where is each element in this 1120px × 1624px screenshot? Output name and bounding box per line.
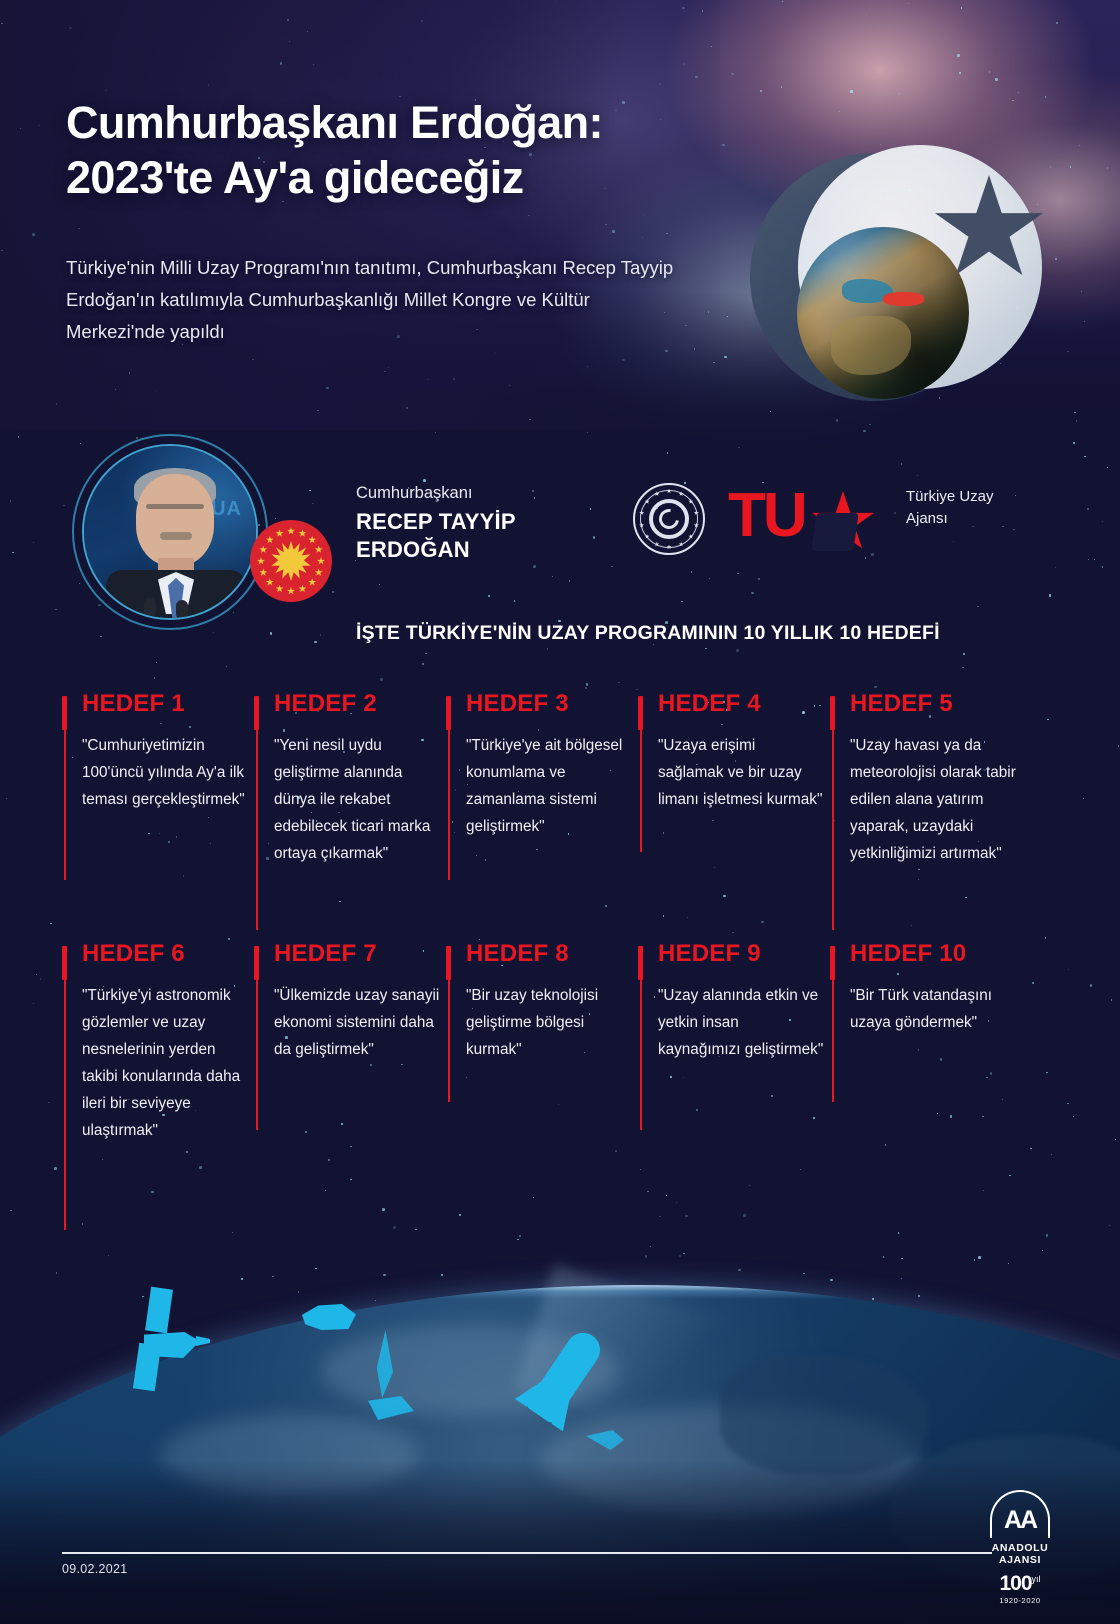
star-dot xyxy=(771,1095,772,1096)
satellite-icon xyxy=(138,1288,234,1388)
star-dot xyxy=(108,1255,109,1256)
star-dot xyxy=(894,512,895,513)
goal-accent-bar xyxy=(638,946,643,980)
star-dot xyxy=(636,689,637,690)
person-name-line-2: ERDOĞAN xyxy=(356,536,516,564)
goal-accent-bar xyxy=(254,946,259,980)
subheading-text: Türkiye'nin Milli Uzay Programı'nın tanı… xyxy=(66,252,686,347)
star-dot xyxy=(33,542,34,543)
star-dot xyxy=(683,1253,684,1254)
star-dot xyxy=(156,662,157,663)
star-dot xyxy=(148,833,149,834)
star-dot xyxy=(1047,719,1048,720)
star-dot xyxy=(1115,1139,1116,1140)
star-dot xyxy=(1090,984,1093,987)
star-dot xyxy=(312,503,313,504)
star-dot xyxy=(585,687,588,690)
star-dot xyxy=(415,1229,416,1230)
photo-flag-pin xyxy=(216,606,226,614)
star-dot xyxy=(605,905,606,906)
star-dot xyxy=(645,1255,648,1258)
star-dot xyxy=(514,600,515,601)
star-dot xyxy=(466,1077,467,1078)
presidential-seal-icon xyxy=(250,520,332,602)
goal-accent-bar xyxy=(62,696,67,730)
debris-fin-icon xyxy=(368,1396,416,1424)
president-photo: TUA xyxy=(84,446,256,618)
goal-title-4: HEDEF 4 xyxy=(658,692,824,716)
star-dot xyxy=(830,1279,833,1282)
goal-card-8: HEDEF 8"Bir uzay teknolojisi geliştirme … xyxy=(446,942,632,1064)
goal-accent-bar-thin xyxy=(64,730,66,880)
seal-star xyxy=(315,546,323,554)
star-dot xyxy=(611,566,612,567)
star-dot xyxy=(186,1151,187,1152)
star-dot xyxy=(1102,566,1103,567)
goal-card-5: HEDEF 5"Uzay havası ya da meteorolojisi … xyxy=(830,692,1016,868)
star-dot xyxy=(1094,559,1095,560)
goal-title-10: HEDEF 10 xyxy=(850,942,1016,966)
goal-title-1: HEDEF 1 xyxy=(82,692,248,716)
seal-star xyxy=(317,557,325,565)
small-craft-icon xyxy=(586,1430,626,1452)
star-dot xyxy=(751,592,754,595)
star-dot xyxy=(1073,1116,1074,1117)
star-dot xyxy=(659,1216,660,1217)
star-dot xyxy=(940,1058,943,1061)
seal-star xyxy=(287,527,295,535)
star-dot xyxy=(917,475,918,476)
star-dot xyxy=(102,1159,103,1160)
goal-accent-bar xyxy=(830,696,835,730)
goal-title-9: HEDEF 9 xyxy=(658,942,824,966)
star-dot xyxy=(983,1190,984,1191)
star-dot xyxy=(965,897,966,898)
star-dot xyxy=(974,1259,975,1260)
star-dot xyxy=(488,595,489,596)
star-dot xyxy=(552,576,553,577)
portrait-block: TUA xyxy=(72,434,302,634)
star-dot xyxy=(685,1215,688,1218)
headline-line-1: Cumhurbaşkanı Erdoğan: xyxy=(66,97,603,148)
person-name: RECEP TAYYİP ERDOĞAN xyxy=(356,508,516,564)
goal-text-6: "Türkiye'yi astronomik gözlemler ve uzay… xyxy=(82,983,248,1145)
satellite-antenna xyxy=(196,1336,210,1346)
star-dot xyxy=(650,1246,651,1247)
person-title: Cumhurbaşkanı xyxy=(356,484,516,503)
goal-accent-bar-thin xyxy=(832,730,834,930)
star-dot xyxy=(962,667,963,668)
star-dot xyxy=(712,820,713,821)
section-header: İŞTE TÜRKİYE'NİN UZAY PROGRAMININ 10 YIL… xyxy=(356,622,940,645)
star-dot xyxy=(325,1190,326,1191)
star-dot xyxy=(6,798,7,799)
fin-shape xyxy=(368,1396,414,1420)
photo-face xyxy=(136,474,214,566)
seal-star xyxy=(276,529,284,537)
star-dot xyxy=(534,497,535,498)
star-dot xyxy=(1008,1263,1009,1264)
star-dot xyxy=(696,1109,697,1110)
satellite-panel-top xyxy=(145,1287,173,1334)
star-dot xyxy=(154,677,155,678)
star-dot xyxy=(208,817,209,818)
anadolu-ajansi-logo: AA ANADOLU AJANSI 100yıl 1920-2020 xyxy=(978,1490,1062,1598)
star-dot xyxy=(183,875,184,876)
star-dot xyxy=(210,843,211,844)
star-dot xyxy=(738,1269,741,1272)
star-dot xyxy=(749,1185,750,1186)
star-dot xyxy=(425,653,426,654)
star-dot xyxy=(1109,1225,1110,1226)
star-dot xyxy=(459,1214,462,1217)
agency-name: Türkiye Uzay Ajansı xyxy=(906,486,1036,530)
goal-title-8: HEDEF 8 xyxy=(466,942,632,966)
star-dot xyxy=(441,1274,442,1275)
seal-star xyxy=(257,557,265,565)
star-dot xyxy=(370,1064,371,1065)
goal-accent-bar-thin xyxy=(256,730,258,930)
star-dot xyxy=(911,925,912,926)
star-dot xyxy=(663,915,664,916)
star-dot xyxy=(679,1255,680,1256)
star-dot xyxy=(1046,1072,1047,1073)
star-dot xyxy=(168,841,171,844)
star-dot xyxy=(36,974,37,975)
bottom-fade-overlay xyxy=(0,1460,1120,1624)
goal-title-2: HEDEF 2 xyxy=(274,692,440,716)
goal-accent-bar-thin xyxy=(448,730,450,880)
star-dot xyxy=(314,641,317,644)
star-dot xyxy=(199,1166,202,1169)
star-dot xyxy=(640,1169,641,1170)
star-dot xyxy=(918,879,919,880)
star-dot xyxy=(422,663,423,664)
star-dot xyxy=(593,536,596,539)
wing-shape xyxy=(375,1330,393,1398)
star-dot xyxy=(1032,982,1033,983)
star-dot xyxy=(176,836,177,837)
star-dot xyxy=(100,636,101,637)
star-dot xyxy=(1067,1103,1068,1104)
star-dot xyxy=(709,578,710,579)
page-title: Cumhurbaşkanı Erdoğan: 2023'te Ay'a gide… xyxy=(66,96,766,206)
star-dot xyxy=(151,1191,154,1194)
goal-accent-bar-thin xyxy=(640,730,642,852)
star-dot xyxy=(618,682,619,683)
aa-anniversary-years: 1920-2020 xyxy=(978,1596,1062,1605)
agency-name-line-2: Ajansı xyxy=(906,508,1036,530)
star-dot xyxy=(883,1256,884,1257)
goal-card-6: HEDEF 6"Türkiye'yi astronomik gözlemler … xyxy=(62,942,248,1145)
star-dot xyxy=(82,1223,83,1224)
star-dot xyxy=(1051,1154,1052,1155)
star-dot xyxy=(382,1208,385,1211)
star-dot xyxy=(918,869,919,870)
star-dot xyxy=(375,1300,376,1301)
star-dot xyxy=(978,1256,981,1259)
seal-star xyxy=(266,536,274,544)
star-dot xyxy=(813,1117,814,1118)
ministry-emblem-icon xyxy=(633,483,705,555)
star-dot xyxy=(874,686,877,689)
goal-text-4: "Uzaya erişimi sağlamak ve bir uzay lima… xyxy=(658,733,824,814)
seal-star xyxy=(266,578,274,586)
star-dot xyxy=(901,1258,902,1259)
star-dot xyxy=(705,648,706,649)
star-dot xyxy=(918,1049,919,1050)
goal-text-1: "Cumhuriyetimizin 100'üncü yılında Ay'a … xyxy=(82,733,248,814)
goal-accent-bar xyxy=(446,696,451,730)
goal-accent-bar-thin xyxy=(448,980,450,1102)
star-dot xyxy=(1102,521,1103,522)
star-dot xyxy=(901,1278,902,1279)
person-name-line-1: RECEP TAYYİP xyxy=(356,508,516,536)
star-dot xyxy=(670,1076,671,1077)
satellite-body xyxy=(144,1332,200,1358)
goal-text-10: "Bir Türk vatandaşını uzaya göndermek" xyxy=(850,983,1016,1037)
goal-card-4: HEDEF 4"Uzaya erişimi sağlamak ve bir uz… xyxy=(638,692,824,814)
shuttle-icon xyxy=(302,1300,358,1336)
goal-text-5: "Uzay havası ya da meteorolojisi olarak … xyxy=(850,733,1016,868)
tua-logo-notch xyxy=(811,513,858,551)
star-dot xyxy=(982,1116,983,1117)
star-dot xyxy=(54,1167,57,1170)
star-dot xyxy=(476,855,477,856)
goal-accent-bar xyxy=(830,946,835,980)
star-dot xyxy=(350,1179,351,1180)
photo-moustache xyxy=(160,532,192,540)
goal-text-3: "Türkiye'ye ait bölgesel konumlama ve za… xyxy=(466,733,632,841)
star-dot xyxy=(803,1273,804,1274)
star-dot xyxy=(12,552,13,553)
star-dot xyxy=(1118,745,1119,746)
star-dot xyxy=(990,1072,993,1075)
footer-divider xyxy=(62,1552,992,1554)
star-dot xyxy=(393,1226,396,1229)
star-dot xyxy=(1045,937,1046,938)
goal-text-2: "Yeni nesil uydu geliştirme alanında dün… xyxy=(274,733,440,868)
seal-star xyxy=(298,529,306,537)
star-dot xyxy=(986,1077,987,1078)
goal-accent-bar xyxy=(254,696,259,730)
star-dot xyxy=(328,1159,329,1160)
debris-wing-icon xyxy=(375,1330,401,1400)
aa-anniversary: 100yıl xyxy=(978,1573,1062,1594)
star-dot xyxy=(691,571,692,572)
star-dot xyxy=(232,1232,233,1233)
seal-star xyxy=(308,578,316,586)
person-label: Cumhurbaşkanı RECEP TAYYİP ERDOĞAN xyxy=(356,484,516,564)
photo-microphone-right xyxy=(176,600,188,620)
aa-anniversary-number: 100 xyxy=(999,1572,1031,1595)
aa-arch-icon: AA xyxy=(990,1490,1050,1538)
goal-title-3: HEDEF 3 xyxy=(466,692,632,716)
star-dot xyxy=(383,1274,386,1277)
seal-star xyxy=(298,585,306,593)
star-dot xyxy=(339,901,340,902)
star-dot xyxy=(519,1235,520,1236)
tua-logo: TU xyxy=(728,485,888,551)
goal-card-7: HEDEF 7"Ülkemizde uzay sanayii ekonomi s… xyxy=(254,942,440,1064)
seal-star xyxy=(276,585,284,593)
star-dot xyxy=(309,490,310,491)
star-dot xyxy=(241,1278,242,1279)
star-dot xyxy=(1049,594,1052,597)
star-dot xyxy=(732,932,733,933)
star-dot xyxy=(1046,1234,1049,1237)
star-dot xyxy=(272,1276,273,1277)
star-dot xyxy=(401,1064,402,1065)
goal-text-8: "Bir uzay teknolojisi geliştirme bölgesi… xyxy=(466,983,632,1064)
goal-card-2: HEDEF 2"Yeni nesil uydu geliştirme alanı… xyxy=(254,692,440,868)
star-dot xyxy=(228,938,229,939)
star-dot xyxy=(380,678,383,681)
goal-text-9: "Uzay alanında etkin ve yetkin insan kay… xyxy=(658,983,824,1064)
star-dot xyxy=(1055,567,1056,568)
goal-accent-bar-thin xyxy=(640,980,642,1130)
star-dot xyxy=(533,565,536,568)
star-dot xyxy=(666,1195,667,1196)
star-dot xyxy=(50,923,51,924)
star-dot xyxy=(950,1115,953,1118)
aa-logo-letters: AA xyxy=(992,1508,1048,1533)
goal-card-10: HEDEF 10"Bir Türk vatandaşını uzaya gönd… xyxy=(830,942,1016,1037)
seal-star xyxy=(308,536,316,544)
star-dot xyxy=(532,490,533,491)
seal-star xyxy=(287,587,295,595)
star-dot xyxy=(10,500,11,501)
goal-title-5: HEDEF 5 xyxy=(850,692,1016,716)
star-dot xyxy=(683,1077,684,1078)
star-dot xyxy=(379,584,380,585)
star-dot xyxy=(953,541,954,542)
star-dot xyxy=(676,1202,677,1203)
star-dot xyxy=(681,601,682,602)
star-dot xyxy=(315,1268,316,1269)
star-dot xyxy=(558,1104,559,1105)
goal-accent-bar xyxy=(62,946,67,980)
star-dot xyxy=(40,978,41,979)
star-dot xyxy=(350,1146,351,1147)
seal-star xyxy=(259,568,267,576)
star-dot xyxy=(533,1197,534,1198)
goal-accent-bar-thin xyxy=(64,980,66,1230)
star-dot xyxy=(1030,1148,1031,1149)
star-dot xyxy=(865,557,866,558)
star-dot xyxy=(761,921,764,924)
star-dot xyxy=(871,553,874,556)
goal-accent-bar-thin xyxy=(832,980,834,1102)
star-dot xyxy=(743,1214,746,1217)
aa-logo-name: ANADOLU AJANSI xyxy=(978,1542,1062,1566)
goal-card-3: HEDEF 3"Türkiye'ye ait bölgesel konumlam… xyxy=(446,692,632,841)
star-dot xyxy=(159,833,160,834)
star-dot xyxy=(663,832,664,833)
star-dot xyxy=(423,479,426,482)
star-dot xyxy=(320,634,321,635)
star-dot xyxy=(758,578,759,579)
star-dot xyxy=(647,1191,648,1192)
star-dot xyxy=(55,609,56,610)
goal-card-1: HEDEF 1"Cumhuriyetimizin 100'üncü yılınd… xyxy=(62,692,248,814)
earth-globe-icon xyxy=(797,227,969,399)
star-dot xyxy=(332,591,333,592)
star-dot xyxy=(1042,1250,1043,1251)
star-dot xyxy=(517,1239,518,1240)
turkey-highlight xyxy=(883,292,924,306)
star-dot xyxy=(723,895,726,898)
goal-accent-bar xyxy=(446,946,451,980)
star-dot xyxy=(1002,1099,1003,1100)
star-dot xyxy=(56,1272,57,1273)
star-dot xyxy=(305,1131,306,1132)
star-dot xyxy=(33,1003,34,1004)
star-dot xyxy=(898,1232,899,1233)
star-dot xyxy=(714,867,715,868)
seal-star xyxy=(259,546,267,554)
goal-accent-bar xyxy=(638,696,643,730)
star-dot xyxy=(590,508,591,509)
photo-brow xyxy=(146,504,204,509)
star-dot xyxy=(341,1123,342,1124)
headline-shade-overlay xyxy=(0,0,720,430)
star-dot xyxy=(1087,508,1088,509)
aa-anniversary-unit: yıl xyxy=(1032,1574,1041,1584)
landmass-shape xyxy=(720,1355,930,1475)
shuttle-body xyxy=(302,1304,356,1330)
headline-line-2: 2023'te Ay'a gideceğiz xyxy=(66,151,766,206)
goal-title-6: HEDEF 6 xyxy=(82,942,248,966)
star-dot xyxy=(485,859,486,860)
star-dot xyxy=(736,649,739,652)
star-dot xyxy=(226,666,227,667)
star-dot xyxy=(48,1102,49,1103)
star-dot xyxy=(1068,969,1069,970)
star-dot xyxy=(536,849,537,850)
goal-title-7: HEDEF 7 xyxy=(274,942,440,966)
portrait-inner-ring: TUA xyxy=(82,444,258,620)
star-dot xyxy=(1009,1175,1010,1176)
star-dot xyxy=(1083,798,1084,799)
goal-card-9: HEDEF 9"Uzay alanında etkin ve yetkin in… xyxy=(638,942,824,1064)
small-craft-body xyxy=(586,1430,624,1450)
star-dot xyxy=(1111,999,1112,1000)
star-dot xyxy=(977,606,978,607)
star-dot xyxy=(963,653,964,654)
agency-name-line-1: Türkiye Uzay xyxy=(906,486,1036,508)
star-dot xyxy=(547,648,548,649)
photo-microphone-left xyxy=(144,598,156,618)
turkish-flag-globe-graphic xyxy=(735,135,1065,420)
publish-date: 09.02.2021 xyxy=(62,1562,128,1576)
star-dot xyxy=(937,1113,938,1114)
star-dot xyxy=(10,1210,11,1211)
star-dot xyxy=(737,573,738,574)
landmass-shape xyxy=(831,316,910,374)
goal-text-7: "Ülkemizde uzay sanayii ekonomi sistemin… xyxy=(274,983,440,1064)
star-dot xyxy=(800,1169,801,1170)
goal-accent-bar-thin xyxy=(256,980,258,1130)
star-dot xyxy=(586,683,589,686)
star-dot xyxy=(687,917,688,918)
infographic-poster: Cumhurbaşkanı Erdoğan: 2023'te Ay'a gide… xyxy=(0,0,1120,1624)
seal-star xyxy=(315,568,323,576)
star-dot xyxy=(63,505,64,506)
star-dot xyxy=(569,580,570,581)
star-dot xyxy=(615,1150,616,1151)
star-dot xyxy=(1088,559,1089,560)
